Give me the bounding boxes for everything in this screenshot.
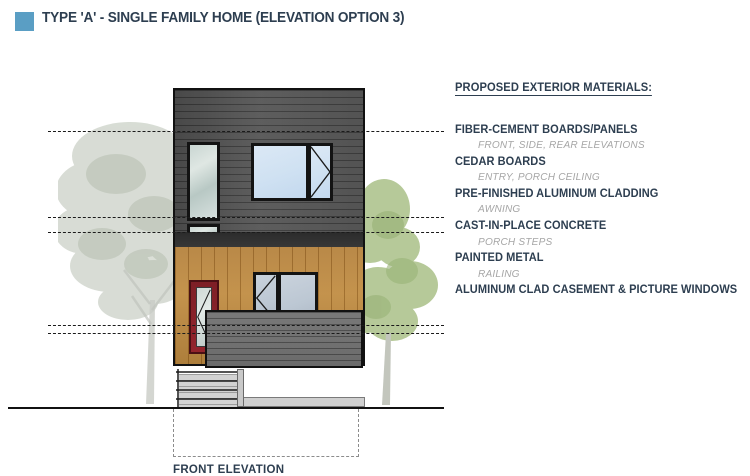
materials-panel: PROPOSED EXTERIOR MATERIALS: FIBER-CEMEN… <box>455 78 745 299</box>
railing-post <box>237 369 244 407</box>
elevation-drawing: FRONT ELEVATION <box>0 42 450 468</box>
level-line <box>48 333 444 334</box>
upper-picture-window <box>251 143 309 201</box>
level-line <box>48 131 444 132</box>
material-name: ALUMINUM CLAD CASEMENT & PICTURE WINDOWS <box>455 282 733 298</box>
floor-band-fascia <box>173 232 365 248</box>
title-bar: TYPE 'A' - SINGLE FAMILY HOME (ELEVATION… <box>0 0 750 42</box>
material-detail: PORCH STEPS <box>455 235 733 251</box>
painted-metal-railing <box>176 369 242 407</box>
casement-swing-icon <box>311 146 330 198</box>
drawing-caption: FRONT ELEVATION <box>173 464 373 476</box>
level-line <box>48 232 444 233</box>
material-detail: ENTRY, PORCH CEILING <box>455 170 733 186</box>
material-detail: FRONT, SIDE, REAR ELEVATIONS <box>455 138 733 154</box>
page-title: TYPE 'A' - SINGLE FAMILY HOME (ELEVATION… <box>42 10 404 26</box>
title-color-swatch <box>15 12 34 31</box>
material-name: FIBER-CEMENT BOARDS/PANELS <box>455 122 733 138</box>
material-name: PAINTED METAL <box>455 250 733 266</box>
level-line <box>48 325 444 326</box>
upper-casement-window <box>308 143 333 201</box>
material-name: CEDAR BOARDS <box>455 154 733 170</box>
upper-tall-window <box>187 142 220 221</box>
material-detail: RAILING <box>455 267 733 283</box>
footprint-boundary <box>173 409 359 457</box>
porch-awning <box>205 310 363 368</box>
material-detail: AWNING <box>455 202 733 218</box>
porch-slab <box>237 397 365 407</box>
material-name: CAST-IN-PLACE CONCRETE <box>455 218 733 234</box>
level-line <box>48 217 444 218</box>
materials-list: FIBER-CEMENT BOARDS/PANELSFRONT, SIDE, R… <box>455 122 745 299</box>
material-name: PRE-FINISHED ALUMINUM CLADDING <box>455 186 733 202</box>
materials-heading: PROPOSED EXTERIOR MATERIALS: <box>455 82 652 96</box>
